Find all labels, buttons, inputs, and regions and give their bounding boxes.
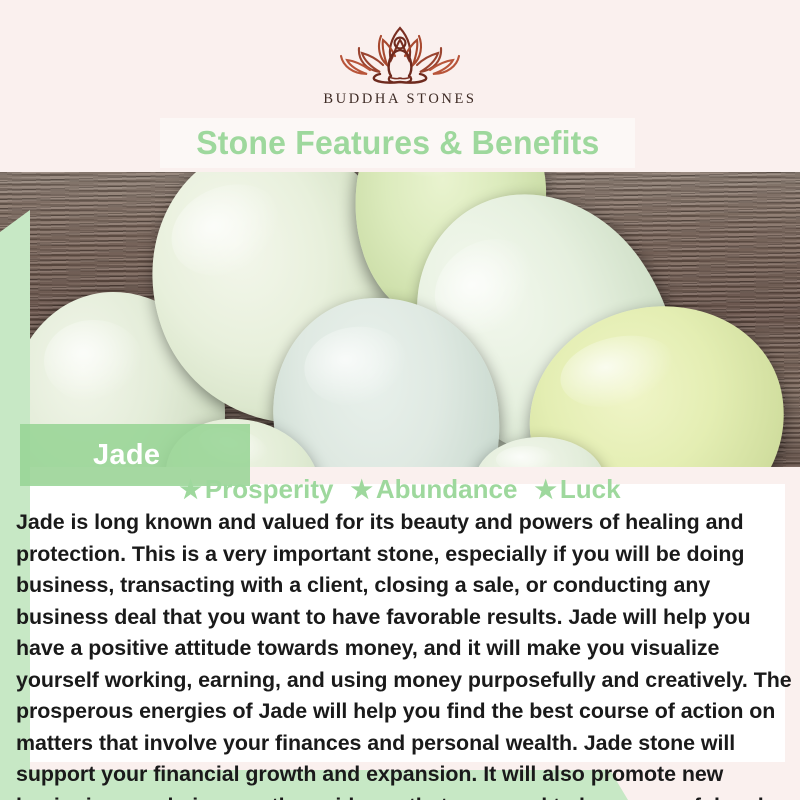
section-title-banner: Stone Features & Benefits <box>160 118 635 168</box>
keyword-item: ★Prosperity <box>179 474 333 504</box>
keyword-label: Abundance <box>376 474 518 504</box>
stone-description: Jade is long known and valued for its be… <box>16 507 796 800</box>
keyword-label: Prosperity <box>205 474 334 504</box>
keyword-item: ★Abundance <box>350 474 517 504</box>
stone-name: Jade <box>93 439 160 472</box>
brand-name: BUDDHA STONES <box>0 91 800 108</box>
brand-logo: BUDDHA STONES <box>0 22 800 108</box>
product-info-card: BUDDHA STONES Stone Features & Benefits … <box>0 0 800 800</box>
keyword-label: Luck <box>560 474 621 504</box>
star-icon: ★ <box>350 476 372 504</box>
keyword-list: ★Prosperity★Abundance★Luck <box>0 474 800 505</box>
keyword-item: ★Luck <box>534 474 620 504</box>
page-title: Stone Features & Benefits <box>196 124 599 162</box>
lotus-meditation-icon <box>325 22 475 88</box>
stone-photo <box>0 172 800 467</box>
star-icon: ★ <box>534 476 556 504</box>
star-icon: ★ <box>179 476 201 504</box>
